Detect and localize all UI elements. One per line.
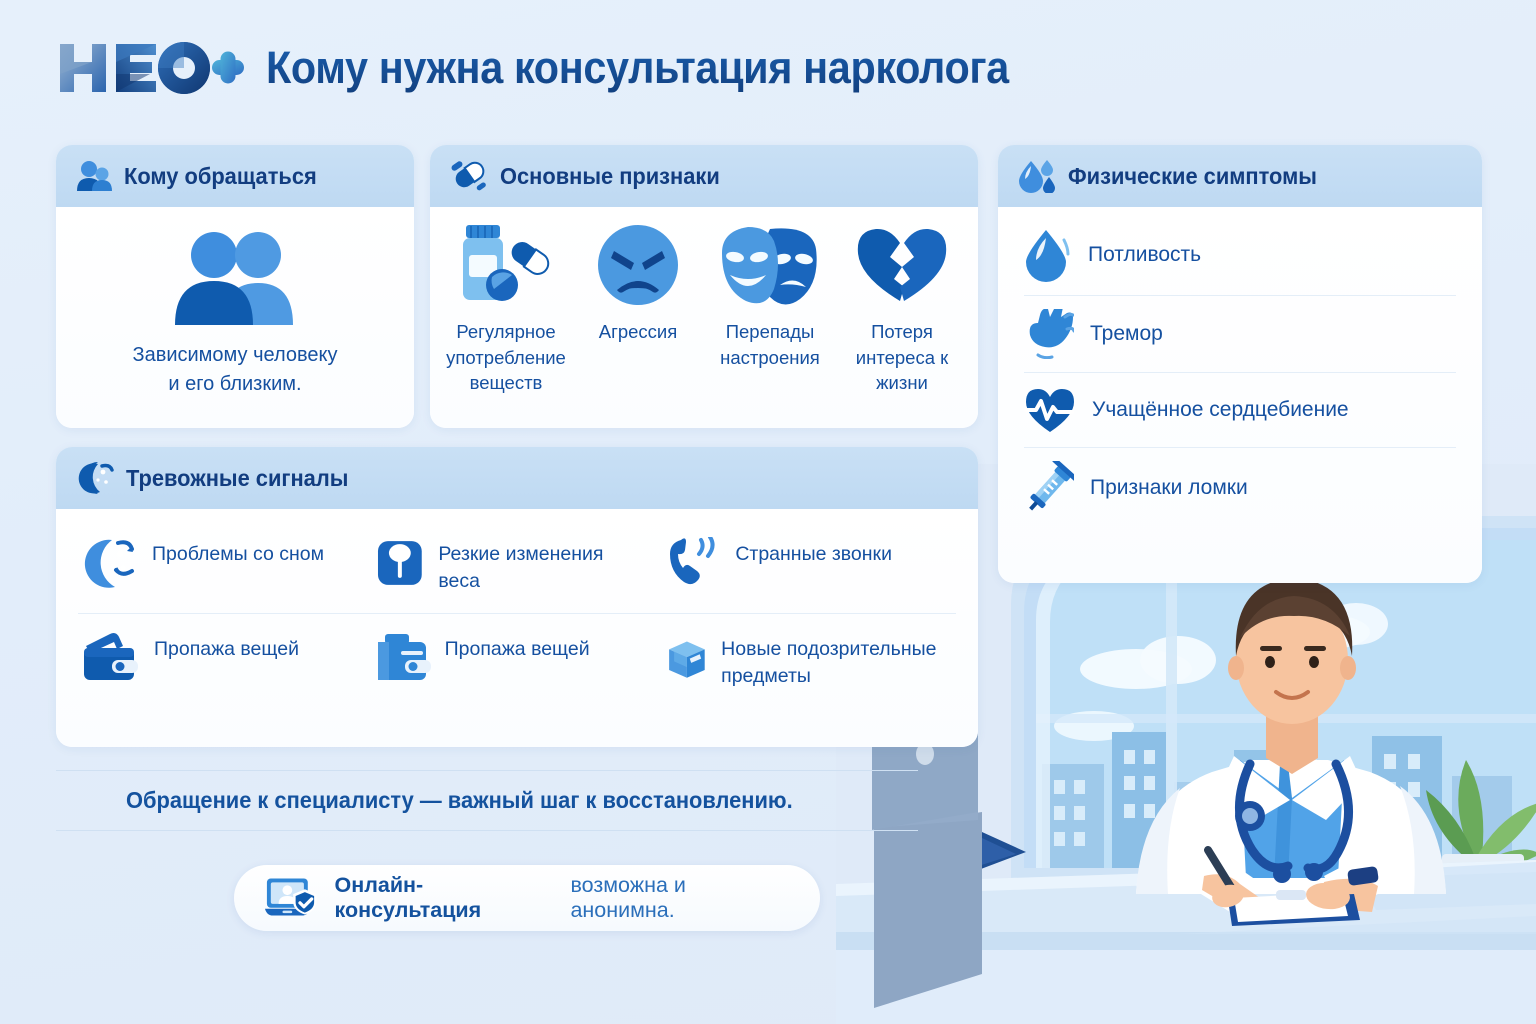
phone-call-icon xyxy=(667,537,721,589)
doctor xyxy=(1136,578,1446,926)
water-drop-icon xyxy=(1024,228,1072,282)
card-main-signs: Основные признаки xyxy=(430,145,978,428)
alarm-signal-label: Новые подозрительные предметы xyxy=(721,632,942,689)
header: Кому нужна консультация нарколога xyxy=(56,36,1074,100)
shaking-hand-icon xyxy=(1024,309,1074,359)
water-drops-icon xyxy=(1018,159,1056,193)
card-alarm-header: Тревожные сигналы xyxy=(56,447,978,509)
signs-grid: Регулярное употребление веществ Агрессия xyxy=(444,221,964,396)
alarm-signal-item: Резкие изменения веса xyxy=(371,519,664,613)
capsule-icon xyxy=(450,159,488,193)
card-signs-title: Основные признаки xyxy=(500,163,720,190)
card-alarm-title: Тревожные сигналы xyxy=(126,465,348,492)
physical-symptom-label: Потливость xyxy=(1088,241,1201,269)
card-physical-title: Физические симптомы xyxy=(1068,163,1317,190)
card-physical-header: Физические симптомы xyxy=(998,145,1482,207)
physical-symptom-label: Признаки ломки xyxy=(1090,474,1248,502)
who-caption-line-1: Зависимому человеку xyxy=(133,341,338,370)
alarm-signal-label: Пропажа вещей xyxy=(154,632,299,663)
alarm-signal-label: Странные звонки xyxy=(735,537,892,568)
syringe-icon xyxy=(1024,461,1074,515)
card-who-body: Зависимому человеку и его близким. xyxy=(56,207,414,428)
physical-symptom-row: Учащённое сердцебиение xyxy=(1024,372,1456,447)
moon-sleep-icon xyxy=(82,537,138,591)
sign-item: Перепады настроения xyxy=(708,221,832,370)
card-physical-body: Потливость Тремор Учащён xyxy=(998,207,1482,583)
sign-label: Агрессия xyxy=(599,319,678,345)
potted-plant xyxy=(1426,760,1536,925)
angry-face-icon xyxy=(590,221,686,307)
alarm-signal-item: Пропажа вещей xyxy=(371,613,664,707)
alarm-signal-item: Странные звонки xyxy=(663,519,956,613)
card-who-header: Кому обращаться xyxy=(56,145,414,207)
card-physical-symptoms: Физические симптомы Потливость xyxy=(998,145,1482,583)
page-title: Кому нужна консультация нарколога xyxy=(266,42,1009,94)
alarm-signal-item: Пропажа вещей xyxy=(78,613,371,707)
sign-item: Агрессия xyxy=(576,221,700,345)
brand-logo xyxy=(56,36,244,100)
sign-label: Перепады настроения xyxy=(708,319,832,370)
closed-wallet-icon xyxy=(375,632,431,682)
crescent-moon-icon xyxy=(76,460,114,496)
physical-symptom-row: Потливость xyxy=(1024,215,1456,295)
weight-scale-icon xyxy=(375,537,425,589)
laptop-verified-icon xyxy=(264,875,319,921)
office-chair xyxy=(1326,793,1399,945)
broken-heart-icon xyxy=(854,221,950,307)
online-consultation-light: возможна и анонимна. xyxy=(570,873,790,923)
who-caption-line-2: и его близким. xyxy=(133,370,338,399)
infographic-root: Кому нужна консультация нарколога Кому о… xyxy=(0,0,1536,1024)
neo-plus-logo-icon xyxy=(56,38,244,98)
pill-bottle-icon xyxy=(458,221,554,307)
card-who-title: Кому обращаться xyxy=(124,163,317,190)
physical-symptom-row: Признаки ломки xyxy=(1024,447,1456,528)
alarm-grid: Проблемы со сном Резкие изменения веса xyxy=(78,519,956,707)
suspicious-box-icon xyxy=(667,632,707,688)
theater-masks-icon xyxy=(718,221,822,307)
card-signs-body: Регулярное употребление веществ Агрессия xyxy=(430,207,978,428)
sign-item: Регулярное употребление веществ xyxy=(444,221,568,396)
online-consultation-text: Онлайн-консультация возможна и анонимна. xyxy=(335,873,791,923)
online-consultation-strong: Онлайн-консультация xyxy=(335,873,564,923)
physical-symptom-label: Тремор xyxy=(1090,320,1163,348)
physical-symptom-row: Тремор xyxy=(1024,295,1456,372)
sign-label: Регулярное употребление веществ xyxy=(444,319,568,396)
alarm-signal-item: Новые подозрительные предметы xyxy=(663,613,956,707)
online-consultation-banner[interactable]: Онлайн-консультация возможна и анонимна. xyxy=(234,865,820,931)
physical-symptom-label: Учащённое сердцебиение xyxy=(1092,396,1349,424)
heart-pulse-icon xyxy=(1024,386,1076,434)
people-icon xyxy=(76,160,112,192)
card-who-caption: Зависимому человеку и его близким. xyxy=(133,341,338,399)
open-wallet-icon xyxy=(82,632,140,682)
people-icon xyxy=(169,229,301,327)
footer-note: Обращение к специалисту — важный шаг к в… xyxy=(56,770,918,831)
footer-note-text: Обращение к специалисту — важный шаг к в… xyxy=(126,787,878,814)
card-alarm-signals: Тревожные сигналы Проблемы со сном xyxy=(56,447,978,747)
card-who-to-contact: Кому обращаться Зависимому человеку и ег… xyxy=(56,145,414,428)
card-alarm-body: Проблемы со сном Резкие изменения веса xyxy=(56,509,978,747)
sign-item: Потеря интереса к жизни xyxy=(840,221,964,396)
alarm-signal-label: Резкие изменения веса xyxy=(438,537,649,594)
sign-label: Потеря интереса к жизни xyxy=(840,319,964,396)
alarm-signal-label: Пропажа вещей xyxy=(445,632,590,663)
alarm-signal-label: Проблемы со сном xyxy=(152,537,324,568)
card-signs-header: Основные признаки xyxy=(430,145,978,207)
alarm-signal-item: Проблемы со сном xyxy=(78,519,371,613)
